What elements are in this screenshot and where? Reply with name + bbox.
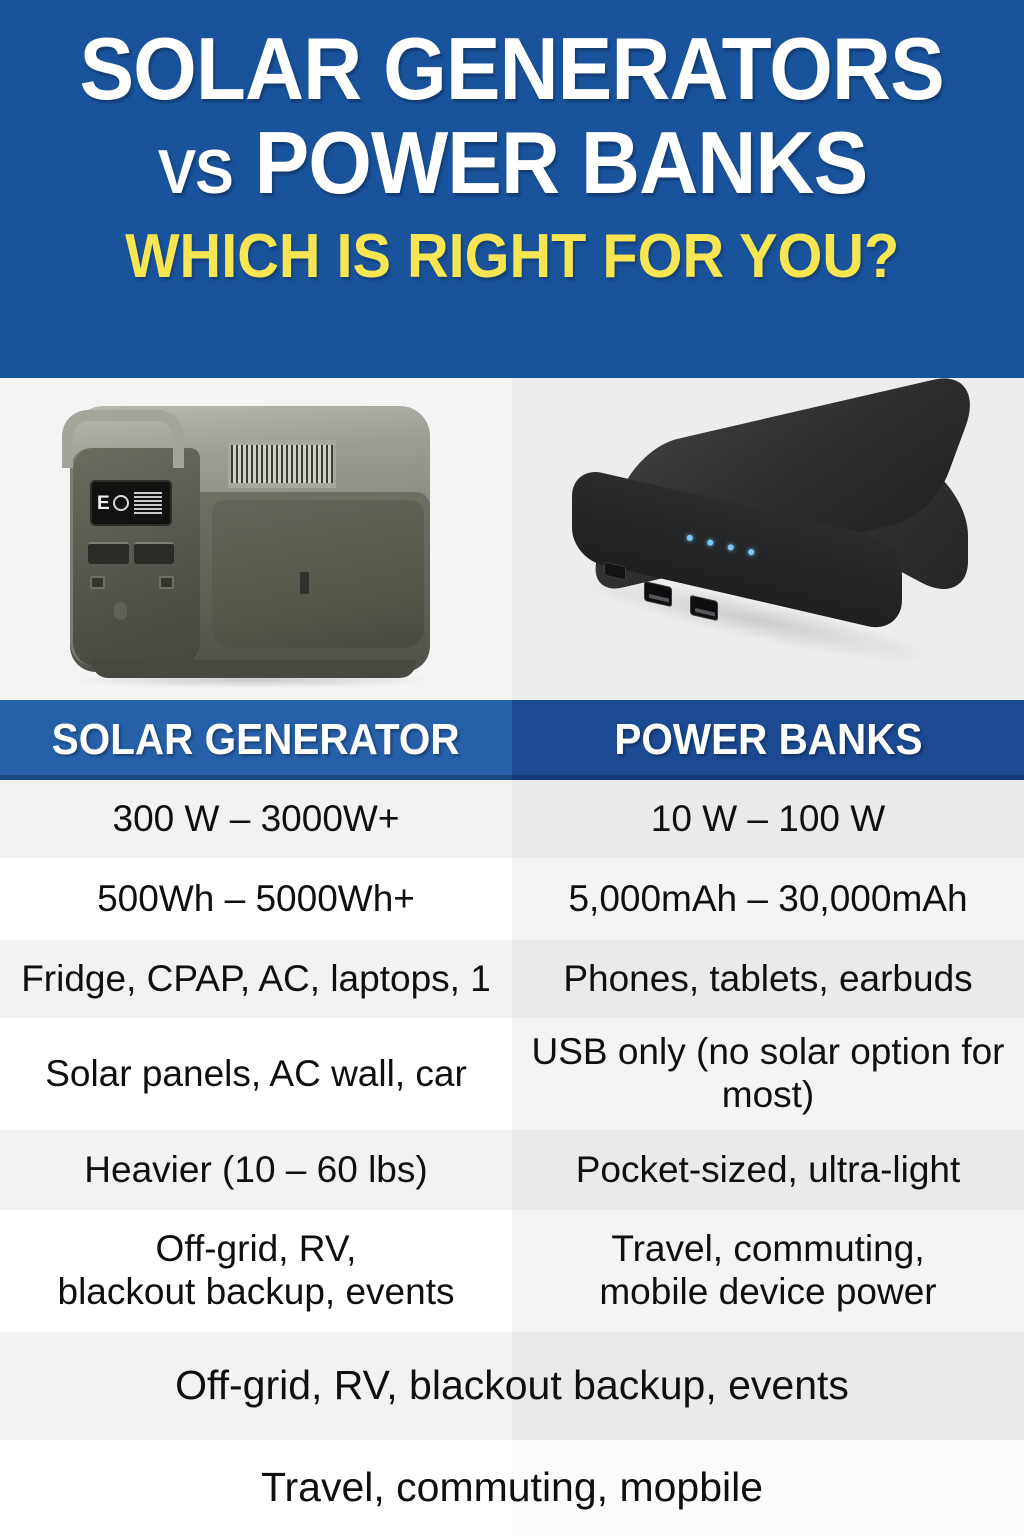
generator-brand-mark: E	[97, 494, 110, 513]
cell-text: Solar panels, AC wall, car	[45, 1053, 467, 1096]
headline-secondary: vs POWER BANKS	[157, 118, 867, 208]
cell-summary-power-bank: Travel, commuting, mopbile	[0, 1440, 1024, 1536]
cell-devices-left: Fridge, CPAP, AC, laptops, 1	[0, 940, 512, 1018]
headline-secondary-text: POWER BANKS	[254, 113, 867, 212]
cell-text: 300 W – 3000W+	[113, 798, 400, 841]
cell-text: Travel, commuting, mobile device power	[599, 1228, 936, 1314]
power-bank-image-panel	[512, 378, 1024, 700]
table-row: Fridge, CPAP, AC, laptops, 1 Phones, tab…	[0, 940, 1024, 1018]
cell-text: Phones, tablets, earbuds	[563, 958, 972, 1001]
cell-bestuse-right: Travel, commuting, mobile device power	[512, 1210, 1024, 1332]
generator-latch	[300, 572, 309, 594]
cell-text: 10 W – 100 W	[651, 798, 885, 841]
cell-capacity-right: 5,000mAh – 30,000mAh	[512, 858, 1024, 940]
table-row-full-width: Off-grid, RV, blackout backup, events	[0, 1332, 1024, 1440]
cell-output-right: 10 W – 100 W	[512, 780, 1024, 858]
column-header-power-banks: POWER BANKS	[512, 700, 1024, 780]
generator-power-button-icon	[114, 602, 127, 620]
cell-text: 5,000mAh – 30,000mAh	[568, 878, 967, 921]
table-row: 500Wh – 5000Wh+ 5,000mAh – 30,000mAh	[0, 858, 1024, 940]
generator-handle	[62, 410, 184, 468]
generator-side-panel	[212, 500, 424, 648]
cell-bestuse-left: Off-grid, RV, blackout backup, events	[0, 1210, 512, 1332]
cell-text: Off-grid, RV, blackout backup, events	[175, 1362, 849, 1410]
cell-portability-right: Pocket-sized, ultra-light	[512, 1130, 1024, 1210]
column-header-solar-generator-label: SOLAR GENERATOR	[52, 715, 460, 765]
cell-text: 500Wh – 5000Wh+	[97, 878, 415, 921]
table-row: Heavier (10 – 60 lbs) Pocket-sized, ultr…	[0, 1130, 1024, 1210]
power-bank-illustration	[550, 400, 990, 670]
generator-display-screen: E	[90, 480, 172, 526]
column-header-power-banks-label: POWER BANKS	[614, 715, 922, 765]
table-row: Off-grid, RV, blackout backup, events Tr…	[0, 1210, 1024, 1332]
headline-primary: SOLAR GENERATORS	[80, 26, 944, 112]
cell-text: Fridge, CPAP, AC, laptops, 1	[21, 958, 491, 1001]
table-row-full-width: Travel, commuting, mopbile	[0, 1440, 1024, 1536]
column-header-solar-generator: SOLAR GENERATOR	[0, 700, 512, 780]
cell-text: Off-grid, RV, blackout backup, events	[58, 1228, 455, 1314]
cell-summary-solar: Off-grid, RV, blackout backup, events	[0, 1332, 1024, 1440]
cell-capacity-left: 500Wh – 5000Wh+	[0, 858, 512, 940]
table-row: Solar panels, AC wall, car USB only (no …	[0, 1018, 1024, 1130]
cell-text: USB only (no solar option for most)	[524, 1031, 1012, 1117]
cell-portability-left: Heavier (10 – 60 lbs)	[0, 1130, 512, 1210]
cell-output-left: 300 W – 3000W+	[0, 780, 512, 858]
generator-ac-sockets	[90, 576, 174, 589]
cell-text: Pocket-sized, ultra-light	[576, 1149, 961, 1192]
solar-generator-illustration: E	[52, 396, 452, 686]
cell-text: Heavier (10 – 60 lbs)	[84, 1149, 427, 1192]
cell-recharge-left: Solar panels, AC wall, car	[0, 1018, 512, 1130]
generator-power-ring-icon	[113, 495, 129, 511]
comparison-table: 300 W – 3000W+ 10 W – 100 W 500Wh – 5000…	[0, 780, 1024, 1536]
table-row: 300 W – 3000W+ 10 W – 100 W	[0, 780, 1024, 858]
product-images-row: E	[0, 378, 1024, 700]
generator-base	[92, 660, 416, 678]
comparison-column-headers: SOLAR GENERATOR POWER BANKS	[0, 700, 1024, 780]
generator-vent-frame	[228, 440, 336, 488]
headline-subtitle: WHICH IS RIGHT FOR YOU?	[125, 226, 899, 288]
cell-text: Travel, commuting, mopbile	[261, 1464, 763, 1512]
generator-display-bars-icon	[134, 492, 162, 514]
solar-generator-image-panel: E	[0, 378, 512, 700]
cell-recharge-right: USB only (no solar option for most)	[512, 1018, 1024, 1130]
header-banner: SOLAR GENERATORS vs POWER BANKS WHICH IS…	[0, 0, 1024, 378]
generator-usb-ports	[88, 542, 174, 564]
cell-devices-right: Phones, tablets, earbuds	[512, 940, 1024, 1018]
headline-vs: vs	[157, 138, 232, 207]
infographic-page: SOLAR GENERATORS vs POWER BANKS WHICH IS…	[0, 0, 1024, 1536]
